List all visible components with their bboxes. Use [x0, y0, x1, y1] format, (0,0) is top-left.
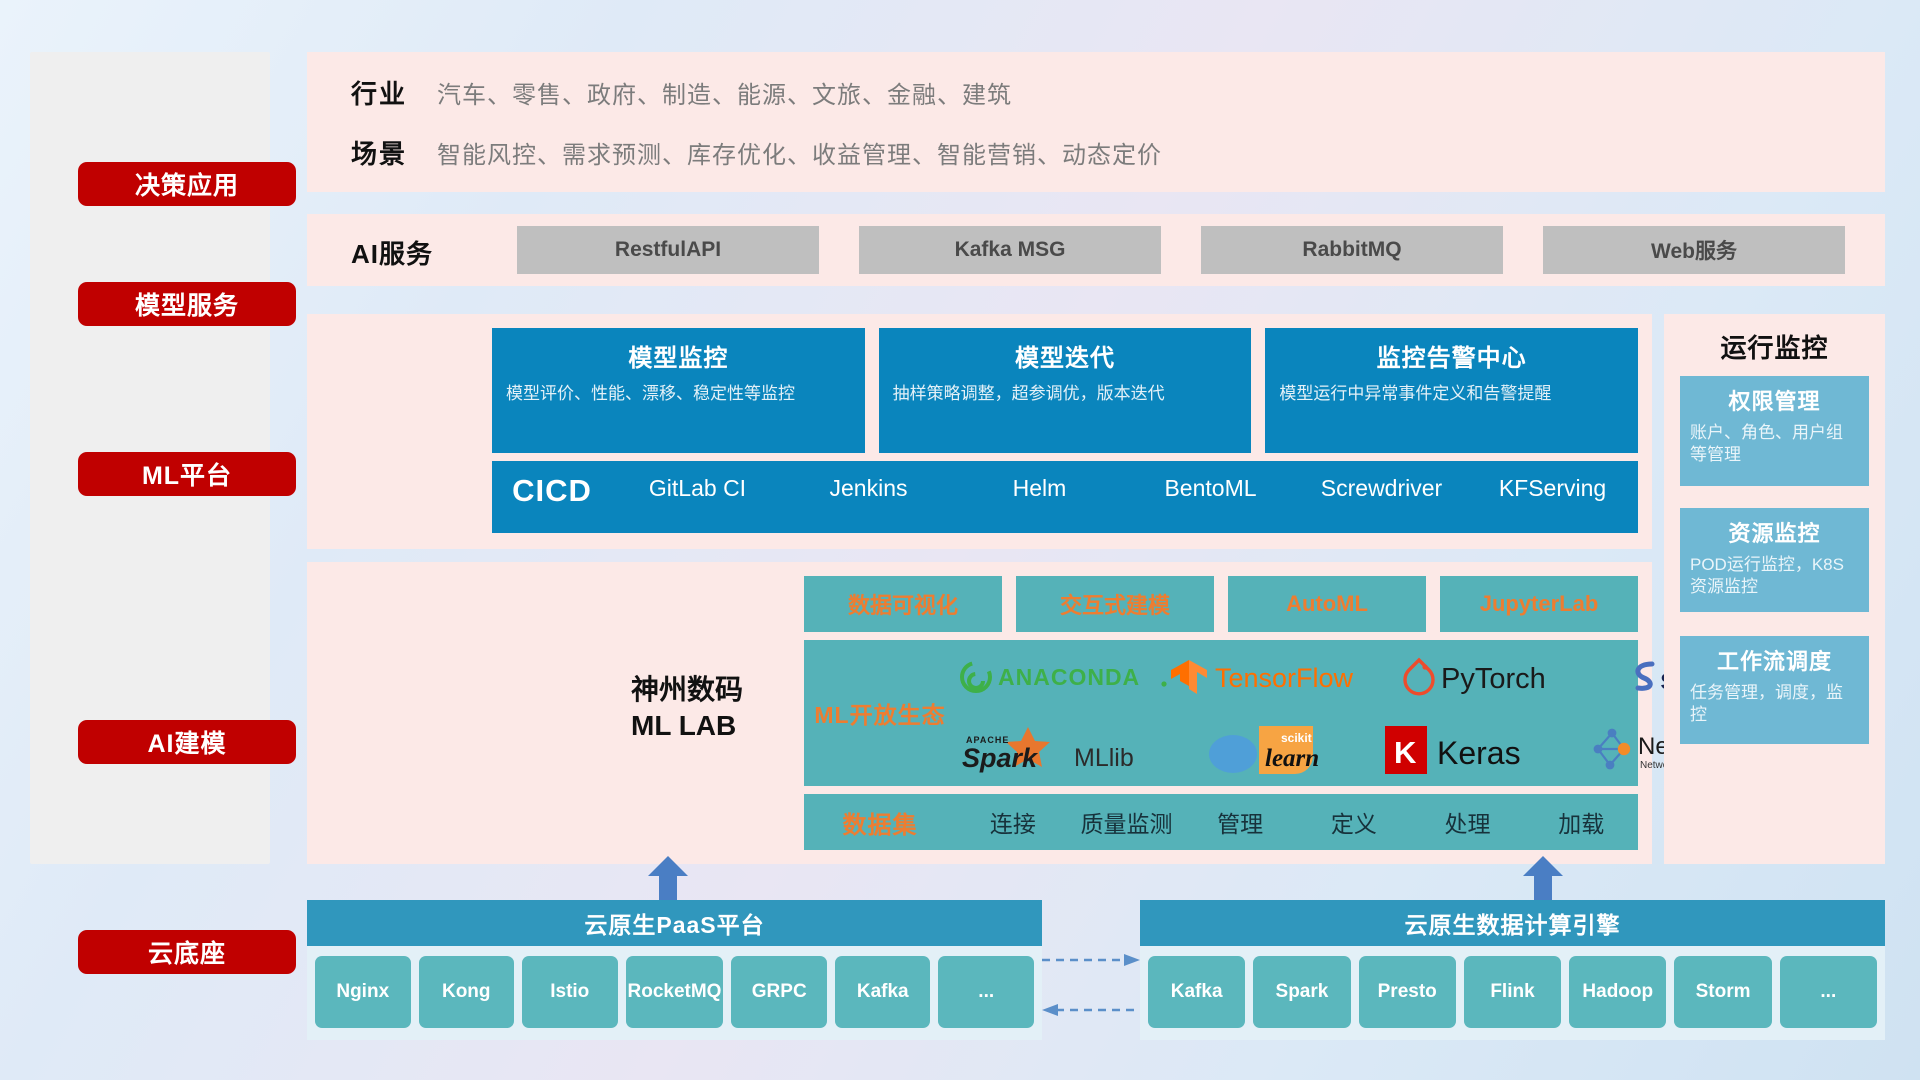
- dataset-item-define[interactable]: 定义: [1297, 805, 1411, 839]
- industry-label: 行业: [307, 74, 437, 111]
- ml-lab-tool-data-visualization[interactable]: 数据可视化: [804, 576, 1002, 632]
- monitor-card-permission-management-desc: 账户、角色、用户组等管理: [1690, 422, 1859, 466]
- ml-lab-tool-list: 数据可视化 交互式建模 AutoML JupyterLab: [804, 576, 1638, 632]
- monitor-card-permission-management[interactable]: 权限管理 账户、角色、用户组等管理: [1680, 376, 1869, 486]
- anaconda-logo: ANACONDA: [956, 657, 1171, 697]
- ai-service-band: AI服务 RestfulAPI Kafka MSG RabbitMQ Web服务: [307, 214, 1885, 286]
- keras-logo: K Keras: [1381, 724, 1586, 776]
- svg-text:learn: learn: [1265, 745, 1319, 772]
- dataset-item-load[interactable]: 加载: [1524, 805, 1638, 839]
- layer-pill-ml-platform-label: ML平台: [142, 456, 232, 492]
- ai-service-label: AI服务: [351, 234, 501, 271]
- layer-pill-model-service-label: 模型服务: [135, 286, 239, 322]
- pytorch-logo: PyTorch: [1401, 656, 1601, 698]
- ai-service-chip-kafka-msg[interactable]: Kafka MSG: [859, 226, 1161, 274]
- scenario-row: 场景 智能风控、需求预测、库存优化、收益管理、智能营销、动态定价: [307, 134, 1162, 171]
- layer-pill-model-service[interactable]: 模型服务: [78, 282, 296, 326]
- runtime-monitoring-title: 运行监控: [1664, 328, 1885, 365]
- paas-chip-kong[interactable]: Kong: [419, 956, 515, 1028]
- cloud-native-data-engine-chip-list: Kafka Spark Presto Flink Hadoop Storm ..…: [1148, 956, 1877, 1028]
- cloud-native-data-engine-title: 云原生数据计算引擎: [1140, 900, 1885, 946]
- cicd-item-kfserving[interactable]: KFServing: [1467, 471, 1638, 505]
- svg-text:PyTorch: PyTorch: [1441, 663, 1546, 695]
- cloud-native-data-engine-block: 云原生数据计算引擎 Kafka Spark Presto Flink Hadoo…: [1140, 900, 1885, 1040]
- engine-chip-more[interactable]: ...: [1780, 956, 1877, 1028]
- paas-chip-istio[interactable]: Istio: [522, 956, 618, 1028]
- ml-lab-tool-jupyterlab[interactable]: JupyterLab: [1440, 576, 1638, 632]
- ai-service-chip-rabbitmq[interactable]: RabbitMQ: [1201, 226, 1503, 274]
- runtime-monitoring-band: 运行监控 权限管理 账户、角色、用户组等管理 资源监控 POD运行监控，K8S资…: [1664, 314, 1885, 864]
- monitor-card-workflow-scheduling-title: 工作流调度: [1690, 644, 1859, 676]
- up-arrow-paas-icon: [645, 856, 691, 902]
- engine-chip-flink[interactable]: Flink: [1464, 956, 1561, 1028]
- paas-chip-grpc[interactable]: GRPC: [731, 956, 827, 1028]
- layer-pill-decision-label: 决策应用: [135, 166, 239, 202]
- layer-pill-ml-platform[interactable]: ML平台: [78, 452, 296, 496]
- mlops-card-model-iteration-desc: 抽样策略调整，超参调优，版本迭代: [893, 383, 1238, 406]
- mlops-card-list: 模型监控 模型评价、性能、漂移、稳定性等监控 模型迭代 抽样策略调整，超参调优，…: [492, 328, 1638, 453]
- engine-chip-kafka[interactable]: Kafka: [1148, 956, 1245, 1028]
- ml-open-ecosystem-label: ML开放生态: [804, 696, 956, 730]
- dataset-item-quality-monitoring[interactable]: 质量监测: [1070, 805, 1184, 839]
- scenario-values: 智能风控、需求预测、库存优化、收益管理、智能营销、动态定价: [437, 135, 1162, 170]
- engine-chip-presto[interactable]: Presto: [1359, 956, 1456, 1028]
- mlops-card-model-iteration-title: 模型迭代: [893, 338, 1238, 373]
- dataset-row: 数据集 连接 质量监测 管理 定义 处理 加载: [804, 794, 1638, 850]
- layer-pill-decision[interactable]: 决策应用: [78, 162, 296, 206]
- ml-open-ecosystem: ML开放生态 ANACONDA: [804, 640, 1638, 786]
- mlops-card-alert-center-desc: 模型运行中异常事件定义和告警提醒: [1279, 383, 1624, 406]
- svg-text:Keras: Keras: [1437, 735, 1521, 771]
- up-arrow-data-engine-icon: [1520, 856, 1566, 902]
- mlops-card-model-iteration[interactable]: 模型迭代 抽样策略调整，超参调优，版本迭代: [879, 328, 1252, 453]
- paas-chip-more[interactable]: ...: [938, 956, 1034, 1028]
- svg-text:MLlib: MLlib: [1074, 744, 1134, 772]
- mlops-card-alert-center[interactable]: 监控告警中心 模型运行中异常事件定义和告警提醒: [1265, 328, 1638, 453]
- ml-lab-label-line2: ML LAB: [631, 708, 801, 744]
- svg-text:Spark: Spark: [962, 743, 1039, 773]
- monitor-card-workflow-scheduling[interactable]: 工作流调度 任务管理，调度，监控: [1680, 636, 1869, 744]
- ml-lab-label-line1: 神州数码: [631, 672, 801, 708]
- layer-pill-ai-modeling[interactable]: AI建模: [78, 720, 296, 764]
- cicd-item-screwdriver[interactable]: Screwdriver: [1296, 471, 1467, 505]
- cicd-item-gitlab-ci[interactable]: GitLab CI: [612, 471, 783, 505]
- mlops-card-model-monitoring-title: 模型监控: [506, 338, 851, 373]
- svg-text:scikit: scikit: [1281, 731, 1312, 745]
- dataset-item-process[interactable]: 处理: [1411, 805, 1525, 839]
- layer-pill-cloud-base-label: 云底座: [148, 934, 226, 970]
- monitor-card-resource-monitoring-title: 资源监控: [1690, 516, 1859, 548]
- mlops-card-model-monitoring[interactable]: 模型监控 模型评价、性能、漂移、稳定性等监控: [492, 328, 865, 453]
- mlops-card-model-monitoring-desc: 模型评价、性能、漂移、稳定性等监控: [506, 383, 851, 406]
- svg-text:K: K: [1394, 735, 1417, 770]
- ml-lab-tool-interactive-modeling[interactable]: 交互式建模: [1016, 576, 1214, 632]
- spark-mllib-logo: APACHE Spark MLlib: [956, 725, 1191, 775]
- engine-chip-storm[interactable]: Storm: [1674, 956, 1771, 1028]
- paas-chip-rocketmq[interactable]: RocketMQ: [626, 956, 724, 1028]
- monitor-card-workflow-scheduling-desc: 任务管理，调度，监控: [1690, 682, 1859, 726]
- cloud-native-paas-chip-list: Nginx Kong Istio RocketMQ GRPC Kafka ...: [315, 956, 1034, 1028]
- monitor-card-resource-monitoring[interactable]: 资源监控 POD运行监控，K8S资源监控: [1680, 508, 1869, 612]
- decision-application-band: 行业 汽车、零售、政府、制造、能源、文旅、金融、建筑 场景 智能风控、需求预测、…: [307, 52, 1885, 192]
- layer-rail: 决策应用 模型服务 ML平台 AI建模: [30, 52, 270, 864]
- dataset-item-manage[interactable]: 管理: [1183, 805, 1297, 839]
- svg-text:ANACONDA: ANACONDA: [998, 664, 1140, 690]
- paas-chip-kafka[interactable]: Kafka: [835, 956, 931, 1028]
- cicd-bar: CICD GitLab CI Jenkins Helm BentoML Scre…: [492, 461, 1638, 533]
- industry-values: 汽车、零售、政府、制造、能源、文旅、金融、建筑: [437, 75, 1012, 110]
- ml-lab-band: 神州数码 ML LAB 数据可视化 交互式建模 AutoML JupyterLa…: [307, 562, 1652, 864]
- ai-service-chip-web[interactable]: Web服务: [1543, 226, 1845, 274]
- mlops-card-alert-center-title: 监控告警中心: [1279, 338, 1624, 373]
- dataset-item-connect[interactable]: 连接: [956, 805, 1070, 839]
- cicd-item-jenkins[interactable]: Jenkins: [783, 471, 954, 505]
- dataset-label: 数据集: [804, 805, 956, 840]
- architecture-diagram: 决策应用 模型服务 ML平台 AI建模 云底座 行业 汽车、零售、政府、制造、能…: [0, 0, 1920, 1080]
- engine-chip-hadoop[interactable]: Hadoop: [1569, 956, 1666, 1028]
- mlops-band: MLOps 模型监控 模型评价、性能、漂移、稳定性等监控 模型迭代 抽样策略调整…: [307, 314, 1652, 549]
- industry-row: 行业 汽车、零售、政府、制造、能源、文旅、金融、建筑: [307, 74, 1012, 111]
- ai-service-items: RestfulAPI Kafka MSG RabbitMQ Web服务: [497, 214, 1865, 286]
- cloud-native-paas-block: 云原生PaaS平台 Nginx Kong Istio RocketMQ GRPC…: [307, 900, 1042, 1040]
- scenario-label: 场景: [307, 134, 437, 171]
- dashed-arrow-right-icon: [1042, 952, 1140, 973]
- engine-chip-spark[interactable]: Spark: [1253, 956, 1350, 1028]
- tensorflow-logo: TensorFlow: [1171, 656, 1401, 698]
- cicd-label: CICD: [492, 471, 612, 509]
- monitor-card-permission-management-title: 权限管理: [1690, 384, 1859, 416]
- layer-pill-cloud-base[interactable]: 云底座: [78, 930, 296, 974]
- svg-text:TensorFlow: TensorFlow: [1215, 663, 1354, 693]
- ai-service-chip-restfulapi[interactable]: RestfulAPI: [517, 226, 819, 274]
- layer-pill-ai-modeling-label: AI建模: [147, 724, 226, 760]
- dashed-arrow-left-icon: [1042, 1002, 1140, 1023]
- cicd-item-helm[interactable]: Helm: [954, 471, 1125, 505]
- scikit-learn-logo: scikit learn: [1191, 722, 1381, 778]
- cicd-item-bentoml[interactable]: BentoML: [1125, 471, 1296, 505]
- paas-chip-nginx[interactable]: Nginx: [315, 956, 411, 1028]
- ml-lab-label: 神州数码 ML LAB: [631, 672, 801, 744]
- cloud-native-paas-title: 云原生PaaS平台: [307, 900, 1042, 946]
- monitor-card-resource-monitoring-desc: POD运行监控，K8S资源监控: [1690, 554, 1859, 598]
- ml-lab-tool-automl[interactable]: AutoML: [1228, 576, 1426, 632]
